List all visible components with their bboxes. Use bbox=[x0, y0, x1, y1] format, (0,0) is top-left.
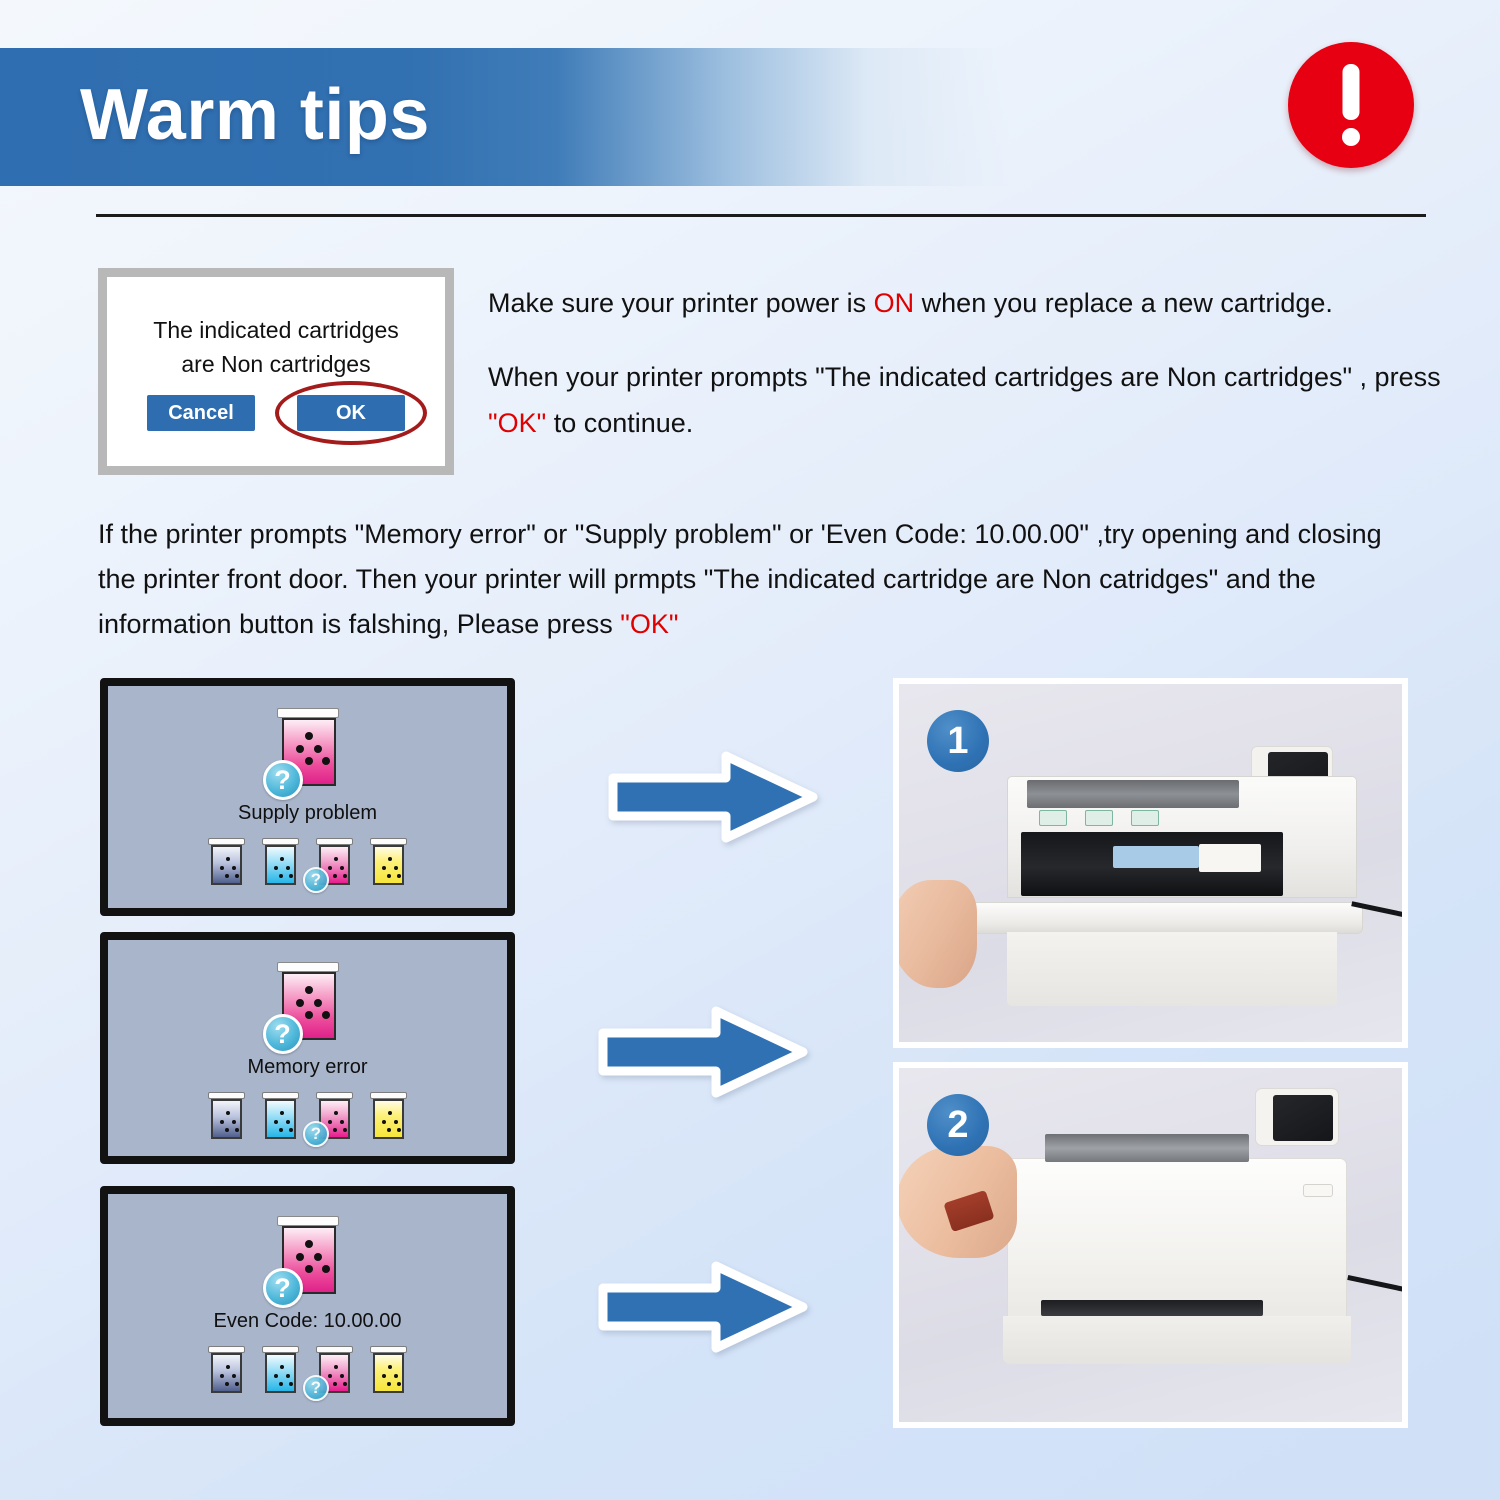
printer-warning-labels bbox=[1039, 810, 1229, 828]
header-divider bbox=[96, 214, 1426, 217]
power-button bbox=[1303, 1184, 1333, 1197]
printer-screen-even-code: ? Even Code: 10.00.00 ? bbox=[100, 1186, 515, 1426]
toner-status-row: ? bbox=[108, 1346, 507, 1393]
dialog-message-line-2: are Non cartridges bbox=[107, 347, 445, 381]
para3-ok-highlight: "OK" bbox=[620, 609, 678, 639]
cartridge-blue-marker bbox=[1113, 846, 1199, 868]
printer-dialog-mock: The indicated cartridges are Non cartrid… bbox=[98, 268, 454, 475]
printer-output-tray-top bbox=[1045, 1134, 1249, 1162]
exclamation-dot bbox=[1342, 128, 1360, 146]
para2-text-b: to continue. bbox=[546, 408, 693, 438]
toner-bottle-icon-large: ? bbox=[275, 1216, 341, 1298]
question-mark-badge: ? bbox=[263, 760, 303, 800]
printer-control-panel bbox=[1255, 1088, 1339, 1146]
paragraph-gap bbox=[488, 326, 1448, 354]
photo-step-1: 1 bbox=[893, 678, 1408, 1048]
toner-bottle-icon-large: ? bbox=[275, 962, 341, 1044]
toner-bottle-icon-large: ? bbox=[275, 708, 341, 790]
screen-status-label: Supply problem bbox=[108, 802, 507, 825]
printer-paper-tray bbox=[1007, 932, 1337, 1006]
photo-step-2: 2 bbox=[893, 1062, 1408, 1428]
screen-status-label: Memory error bbox=[108, 1056, 507, 1079]
toner-cyan-icon bbox=[262, 838, 299, 885]
instruction-paragraph-error-codes: If the printer prompts "Memory error" or… bbox=[98, 512, 1418, 647]
page-title: Warm tips bbox=[80, 60, 430, 170]
question-mark-badge: ? bbox=[263, 1268, 303, 1308]
toner-magenta-icon: ? bbox=[316, 1092, 353, 1139]
toner-cap bbox=[277, 962, 339, 972]
arrow-right-icon-1 bbox=[608, 748, 818, 846]
hand-opening-door bbox=[899, 880, 977, 988]
question-mark-badge: ? bbox=[263, 1014, 303, 1054]
toner-cyan-icon bbox=[262, 1092, 299, 1139]
printer-screen-supply-problem: ? Supply problem ? bbox=[100, 678, 515, 916]
toner-status-row: ? bbox=[108, 1092, 507, 1139]
instruction-paragraph-top: Make sure your printer power is ON when … bbox=[488, 280, 1448, 446]
toner-yellow-icon bbox=[370, 838, 407, 885]
printer-paper-tray-base bbox=[1003, 1316, 1351, 1364]
exclamation-circle-icon bbox=[1288, 42, 1414, 168]
ok-button-wrapper: OK bbox=[297, 395, 405, 431]
arrow-right-icon-2 bbox=[598, 1003, 808, 1101]
toner-black-icon bbox=[208, 1346, 245, 1393]
para3-text-a: If the printer prompts "Memory error" or… bbox=[98, 519, 1382, 639]
toner-cap bbox=[277, 1216, 339, 1226]
cancel-button[interactable]: Cancel bbox=[147, 395, 255, 431]
toner-magenta-icon: ? bbox=[316, 1346, 353, 1393]
question-mark-badge-small: ? bbox=[303, 867, 329, 893]
power-cord bbox=[1347, 1275, 1402, 1294]
screen-status-label: Even Code: 10.00.00 bbox=[108, 1310, 507, 1333]
question-mark-badge-small: ? bbox=[303, 1121, 329, 1147]
para1-text-b: when you replace a new cartridge. bbox=[914, 288, 1333, 318]
printer-screen-memory-error: ? Memory error ? bbox=[100, 932, 515, 1164]
para1-on-highlight: ON bbox=[874, 288, 915, 318]
printer-output-tray-top bbox=[1027, 780, 1239, 808]
toner-cyan-icon bbox=[262, 1346, 299, 1393]
toner-black-icon bbox=[208, 838, 245, 885]
arrow-right-icon-3 bbox=[598, 1258, 808, 1356]
toner-cap bbox=[277, 708, 339, 718]
dialog-message: The indicated cartridges are Non cartrid… bbox=[107, 313, 445, 381]
photo-step-2-image: 2 bbox=[899, 1068, 1402, 1422]
exclamation-bar bbox=[1343, 64, 1360, 120]
dialog-button-row: Cancel OK bbox=[107, 395, 445, 431]
para2-text-a: When your printer prompts "The indicated… bbox=[488, 362, 1441, 392]
toner-status-row: ? bbox=[108, 838, 507, 885]
cartridge-instruction-label bbox=[1199, 844, 1261, 872]
step-number-badge-1: 1 bbox=[927, 710, 989, 772]
ok-button[interactable]: OK bbox=[297, 395, 405, 431]
toner-yellow-icon bbox=[370, 1092, 407, 1139]
question-mark-badge-small: ? bbox=[303, 1375, 329, 1401]
para1-text-a: Make sure your printer power is bbox=[488, 288, 874, 318]
step-number-badge-2: 2 bbox=[927, 1094, 989, 1156]
para2-ok-highlight: "OK" bbox=[488, 408, 546, 438]
toner-yellow-icon bbox=[370, 1346, 407, 1393]
photo-step-1-image: 1 bbox=[899, 684, 1402, 1042]
printer-front-door-open bbox=[971, 902, 1363, 934]
toner-magenta-icon: ? bbox=[316, 838, 353, 885]
dialog-message-line-1: The indicated cartridges bbox=[107, 313, 445, 347]
printer-front-slot bbox=[1041, 1300, 1263, 1316]
printer-display-screen bbox=[1273, 1095, 1333, 1141]
toner-black-icon bbox=[208, 1092, 245, 1139]
